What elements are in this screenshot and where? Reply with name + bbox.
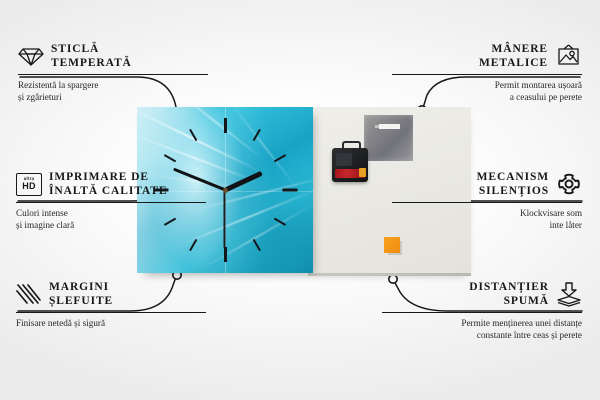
callout-polished-edges: MARGINI ȘLEFUITE Finisare netedă și sigu… xyxy=(16,280,206,329)
callout-title: MÂNERE METALICE xyxy=(479,42,548,70)
back-panel-edge xyxy=(308,273,471,276)
callout-subtitle: Permite menținerea unei distanțe constan… xyxy=(382,317,582,341)
diamond-icon xyxy=(18,46,44,67)
callout-divider xyxy=(16,202,206,203)
callout-subtitle: Culori intense și imagine clară xyxy=(16,207,206,231)
gear-icon xyxy=(556,172,582,196)
callout-title: STICLĂ TEMPERATĂ xyxy=(51,42,132,70)
ultra-hd-icon: ultra HD xyxy=(16,173,42,196)
callout-title: DISTANȚIER SPUMĂ xyxy=(469,280,549,308)
callout-title: MECANISM SILENȚIOS xyxy=(477,170,549,198)
callout-foam-spacer: DISTANȚIER SPUMĂ Permite menținerea unei… xyxy=(382,280,582,341)
callout-subtitle: Klockvisare som inte låter xyxy=(392,207,582,231)
callout-divider xyxy=(18,74,208,75)
metal-hanger xyxy=(364,115,413,161)
foam-spacer-pad xyxy=(384,237,400,253)
picture-frame-icon xyxy=(555,44,582,68)
callout-silent-mechanism: MECANISM SILENȚIOS Klockvisare som inte … xyxy=(392,170,582,231)
callout-metal-handles: MÂNERE METALICE Permit montarea ușoară a… xyxy=(392,42,582,103)
quartz-mechanism xyxy=(332,146,368,184)
callout-title: IMPRIMARE DE ÎNALTĂ CALITATE xyxy=(49,170,167,198)
product-infographic: STICLĂ TEMPERATĂ Rezistentă la spargere … xyxy=(0,0,600,400)
callout-high-quality-print: ultra HD IMPRIMARE DE ÎNALTĂ CALITATE Cu… xyxy=(16,170,206,231)
callout-divider xyxy=(392,202,582,203)
callout-divider xyxy=(16,312,206,313)
callout-divider xyxy=(382,312,582,313)
callout-subtitle: Rezistentă la spargere și zgârieturi xyxy=(18,79,208,103)
callout-subtitle: Permit montarea ușoară a ceasului pe per… xyxy=(392,79,582,103)
callout-subtitle: Finisare netedă și sigură xyxy=(16,317,206,329)
callout-divider xyxy=(392,74,582,75)
press-foam-icon xyxy=(556,282,582,307)
ultra-hd-icon-main-text: HD xyxy=(22,182,35,191)
clock-center-pin xyxy=(223,188,228,193)
mechanism-inner-panel xyxy=(336,153,352,166)
polished-edge-icon xyxy=(16,283,42,305)
battery-positive-terminal xyxy=(359,168,366,177)
hanger-slot xyxy=(379,124,400,129)
callout-title: MARGINI ȘLEFUITE xyxy=(49,280,113,308)
callout-tempered-glass: STICLĂ TEMPERATĂ Rezistentă la spargere … xyxy=(18,42,208,103)
